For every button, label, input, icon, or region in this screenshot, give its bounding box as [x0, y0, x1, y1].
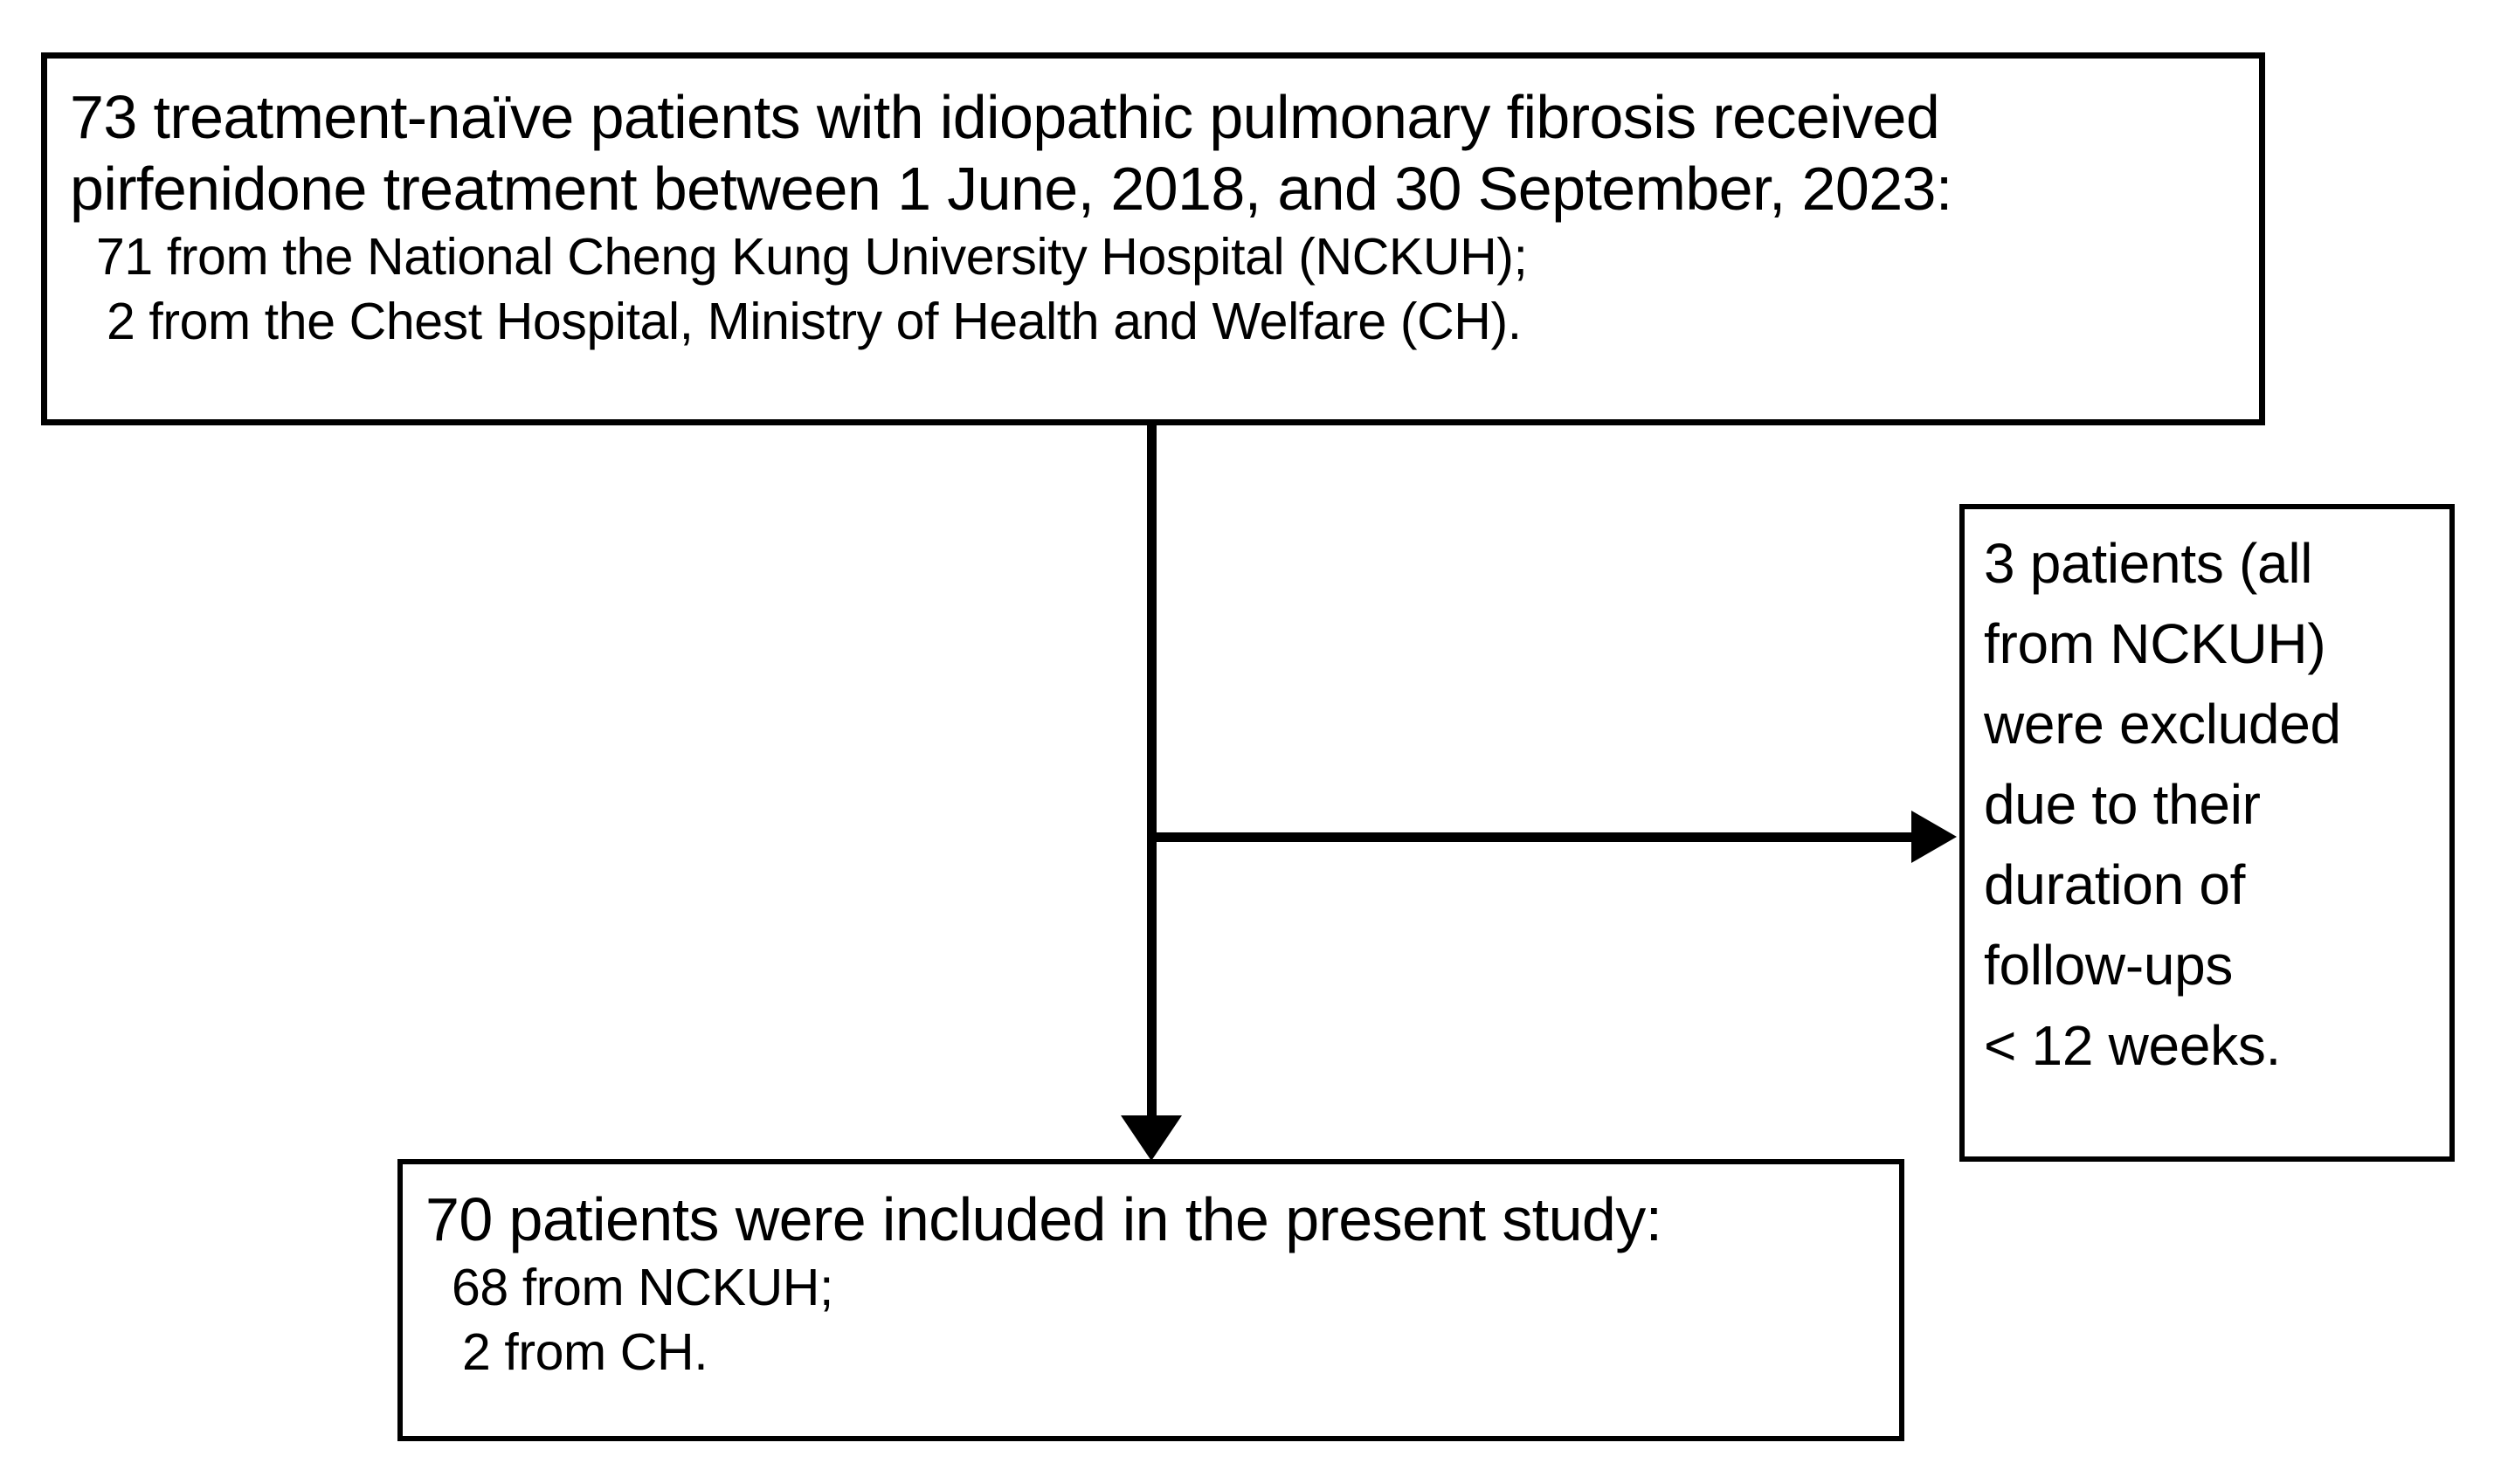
excluded-line-3: were excluded	[1984, 684, 2449, 764]
included-line-1: 70 patients were included in the present…	[425, 1184, 1899, 1255]
enrolled-line-2: pirfenidone treatment between 1 June, 20…	[70, 153, 2259, 224]
enrolled-patients-box: 73 treatment-naïve patients with idiopat…	[41, 52, 2265, 425]
excluded-line-4: due to their	[1984, 764, 2449, 845]
excluded-line-1: 3 patients (all	[1984, 523, 2449, 604]
included-patients-box: 70 patients were included in the present…	[397, 1159, 1904, 1441]
included-site-nckuh: 68 from NCKUH;	[425, 1255, 1899, 1320]
enrolled-to-excluded-arrow-stem	[1151, 832, 1920, 842]
enrolled-site-ch: 2 from the Chest Hospital, Ministry of H…	[70, 289, 2259, 354]
arrow-down-icon	[1121, 1115, 1182, 1161]
excluded-line-7: < 12 weeks.	[1984, 1005, 2449, 1086]
excluded-line-6: follow-ups	[1984, 925, 2449, 1005]
excluded-patients-box: 3 patients (all from NCKUH) were exclude…	[1959, 504, 2455, 1162]
enrolled-line-1: 73 treatment-naïve patients with idiopat…	[70, 81, 2259, 153]
arrow-right-icon	[1911, 811, 1957, 863]
flowchart-figure: 73 treatment-naïve patients with idiopat…	[0, 0, 2494, 1484]
excluded-line-2: from NCKUH)	[1984, 604, 2449, 684]
included-site-ch: 2 from CH.	[425, 1320, 1899, 1384]
enrolled-site-nckuh: 71 from the National Cheng Kung Universi…	[70, 224, 2259, 289]
excluded-line-5: duration of	[1984, 845, 2449, 925]
enrolled-to-included-arrow-stem	[1147, 425, 1157, 1124]
